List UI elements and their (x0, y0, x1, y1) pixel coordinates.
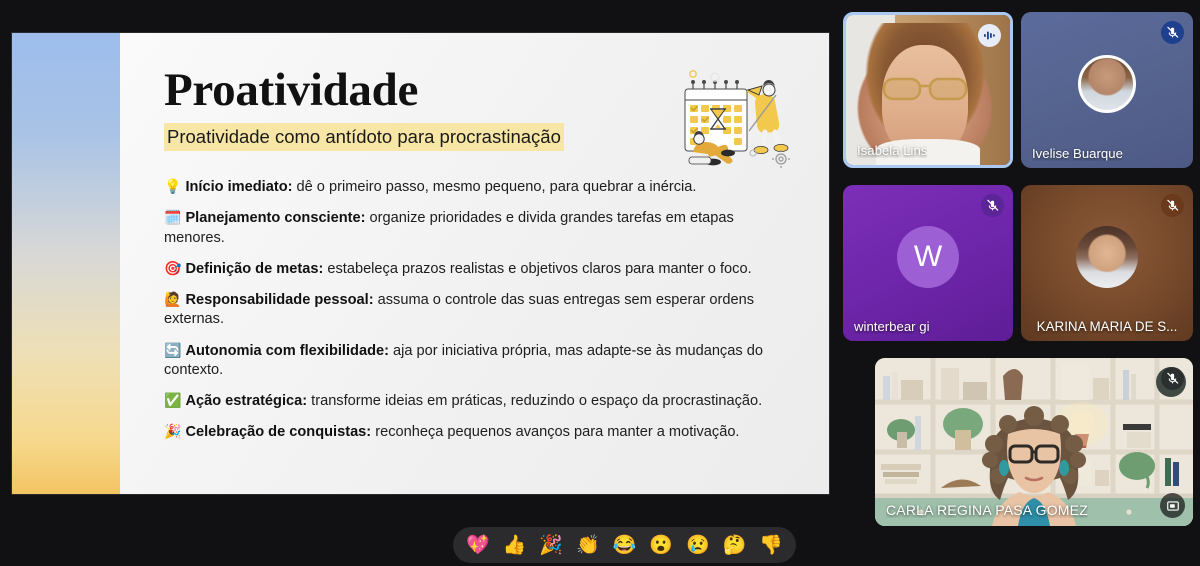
list-item-text: reconheça pequenos avanços para manter a… (371, 424, 739, 440)
screen-share-stage[interactable]: Proatividade Proatividade como antídoto … (0, 0, 840, 520)
microphone-muted-icon (1161, 367, 1184, 390)
target-icon: 🎯 (164, 260, 181, 276)
clapping-hands-reaction[interactable]: 👏 (576, 536, 600, 555)
list-item-lead: Planejamento consciente: (185, 210, 365, 226)
list-item-text: dê o primeiro passo, mesmo pequeno, para… (292, 179, 696, 195)
participant-name-label: winterbear gi (854, 319, 930, 334)
sparkling-heart-reaction[interactable]: 💖 (466, 536, 490, 555)
participant-name-label: KARINA MARIA DE S... (1037, 319, 1178, 334)
participant-grid: Isabela Lins Ivelise Buarque W wint (841, 10, 1197, 530)
slide-bullet-list: 💡Início imediato: dê o primeiro passo, m… (164, 177, 784, 443)
list-item-lead: Início imediato: (185, 179, 292, 195)
list-item: 🙋Responsabilidade pessoal: assuma o cont… (164, 290, 784, 330)
presentation-slide[interactable]: Proatividade Proatividade como antídoto … (12, 33, 829, 494)
list-item: 🎯Definição de metas: estabeleça prazos r… (164, 259, 784, 279)
microphone-active-icon (978, 24, 1001, 47)
reactions-bar[interactable]: 💖👍🎉👏😂😮😢🤔👎 (453, 527, 796, 563)
thinking-face-reaction[interactable]: 🤔 (723, 536, 747, 555)
participant-tile-winterbear-gi[interactable]: W winterbear gi (843, 185, 1013, 341)
list-item-lead: Celebração de conquistas: (185, 424, 371, 440)
video-call-window: Proatividade Proatividade como antídoto … (0, 0, 1200, 566)
arrows-counterclockwise-icon: 🔄 (164, 342, 181, 358)
thumbs-up-reaction[interactable]: 👍 (503, 536, 527, 555)
participant-tile-isabela-lins[interactable]: Isabela Lins (843, 12, 1013, 168)
list-item-text: transforme ideias em práticas, reduzindo… (307, 393, 762, 409)
participant-name-label: Ivelise Buarque (1032, 146, 1123, 161)
list-item-lead: Definição de metas: (185, 261, 323, 277)
participant-tile-ivelise-buarque[interactable]: Ivelise Buarque (1021, 12, 1193, 168)
list-item-lead: Responsabilidade pessoal: (185, 292, 373, 308)
crying-face-reaction[interactable]: 😢 (686, 536, 710, 555)
slide-gradient-band (12, 33, 120, 494)
list-item: 🔄Autonomia com flexibilidade: aja por in… (164, 341, 784, 381)
picture-in-picture-icon[interactable] (1160, 493, 1185, 518)
participant-name-label: CARLA REGINA PASA GOMEZ (886, 502, 1088, 518)
face-with-tears-of-joy-reaction[interactable]: 😂 (613, 536, 637, 555)
list-item-lead: Autonomia com flexibilidade: (185, 343, 389, 359)
face-with-open-mouth-reaction[interactable]: 😮 (649, 536, 673, 555)
avatar (1076, 226, 1138, 288)
slide-content: Proatividade Proatividade como antídoto … (120, 33, 829, 494)
list-item: ✅Ação estratégica: transforme ideias em … (164, 391, 784, 411)
participant-tile-karina-maria[interactable]: KARINA MARIA DE S... (1021, 185, 1193, 341)
list-item: 🎉Celebração de conquistas: reconheça peq… (164, 422, 784, 442)
slide-subtitle: Proatividade como antídoto para procrast… (164, 123, 564, 151)
microphone-muted-icon (981, 194, 1004, 217)
list-item-text: estabeleça prazos realistas e objetivos … (323, 261, 751, 277)
productivity-calendar-hourglass-illustration (677, 69, 795, 171)
microphone-muted-icon (1161, 21, 1184, 44)
check-mark-button-icon: ✅ (164, 392, 181, 408)
raising-hand-icon: 🙋 (164, 291, 181, 307)
thumbs-down-reaction[interactable]: 👎 (759, 536, 783, 555)
avatar (1078, 55, 1136, 113)
microphone-muted-icon (1161, 194, 1184, 217)
light-bulb-icon: 💡 (164, 178, 181, 194)
calendar-icon: 🗓️ (164, 209, 181, 225)
avatar: W (897, 226, 959, 288)
party-popper-reaction[interactable]: 🎉 (539, 536, 563, 555)
list-item: 💡Início imediato: dê o primeiro passo, m… (164, 177, 784, 197)
decorative-glasses-shape (882, 77, 970, 101)
participant-name-label: Isabela Lins (857, 143, 927, 158)
party-popper-icon: 🎉 (164, 423, 181, 439)
list-item: 🗓️Planejamento consciente: organize prio… (164, 208, 784, 248)
list-item-lead: Ação estratégica: (185, 393, 307, 409)
participant-tile-carla-regina[interactable]: CARLA REGINA PASA GOMEZ (875, 358, 1193, 526)
